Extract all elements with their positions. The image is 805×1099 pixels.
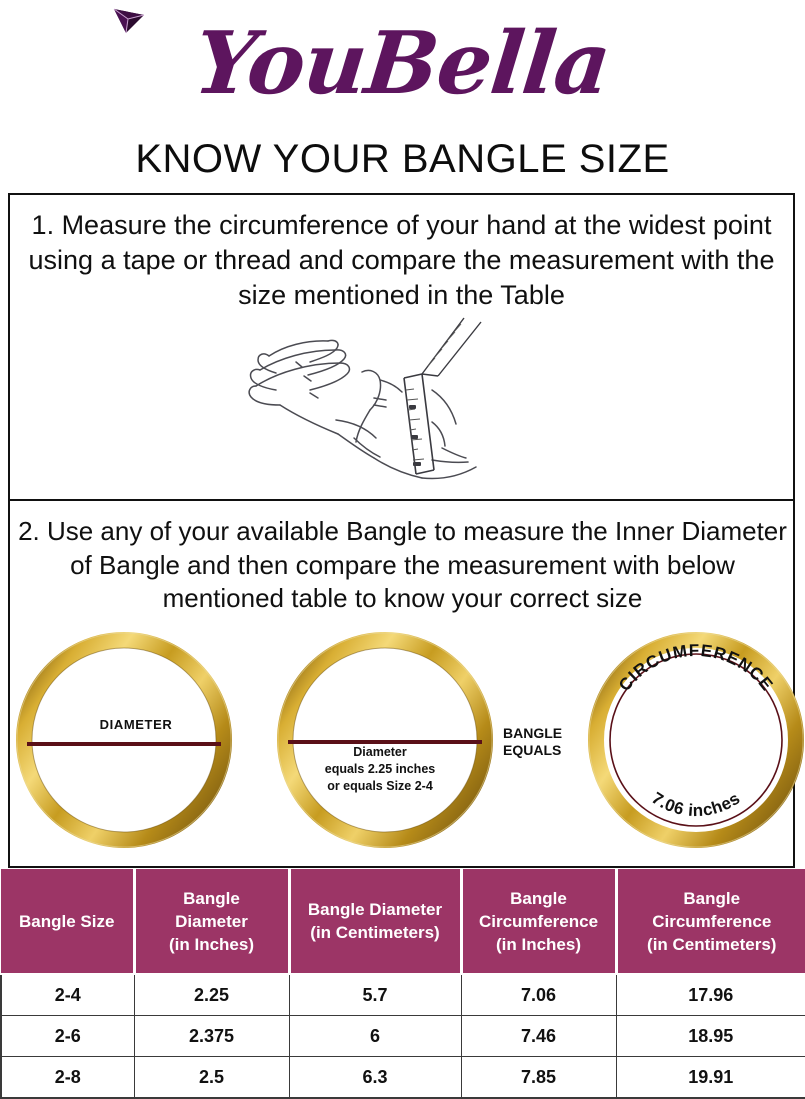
cell-circumference-centimeters: 18.95 bbox=[616, 1016, 805, 1057]
cell-bangle-size: 2-4 bbox=[1, 974, 134, 1016]
diamond-gem-icon bbox=[112, 6, 146, 36]
header-line: Diameter bbox=[138, 910, 286, 933]
step-2-instruction: 2. Use any of your available Bangle to m… bbox=[14, 515, 791, 616]
bangle-size-table-wrapper: Bangle Size Bangle Diameter (in Inches) … bbox=[0, 869, 805, 1085]
cell-diameter-inches: 2.25 bbox=[134, 974, 289, 1016]
cell-diameter-centimeters: 5.7 bbox=[289, 974, 461, 1016]
header-line: Circumference bbox=[465, 910, 613, 933]
table-row: 2-6 2.375 6 7.46 18.95 bbox=[1, 1016, 805, 1057]
bangle-size-guide-page: YouBella KNOW YOUR BANGLE SIZE 1. Measur… bbox=[0, 0, 805, 1085]
column-header-circumference-centimeters: Bangle Circumference (in Centimeters) bbox=[616, 869, 805, 974]
cell-circumference-centimeters: 17.96 bbox=[616, 974, 805, 1016]
brand-logo-text: YouBella bbox=[191, 21, 614, 107]
gold-bangle-icon bbox=[16, 632, 232, 848]
cell-circumference-inches: 7.46 bbox=[461, 1016, 616, 1057]
cell-circumference-inches: 7.85 bbox=[461, 1057, 616, 1099]
header-line: Bangle Diameter bbox=[293, 898, 458, 921]
cell-diameter-inches: 2.5 bbox=[134, 1057, 289, 1099]
header-line: (in Centimeters) bbox=[293, 921, 458, 944]
header-line: Bangle bbox=[138, 887, 286, 910]
bangle-diagram-circumference: CIRCUMFERENCE 7.06 inches bbox=[588, 632, 804, 848]
bangle-equals-line-2: EQUALS bbox=[503, 742, 573, 759]
header-line: Bangle bbox=[465, 887, 613, 910]
frame-section-divider bbox=[8, 499, 795, 501]
gold-bangle-icon bbox=[277, 632, 493, 848]
cell-circumference-inches: 7.06 bbox=[461, 974, 616, 1016]
cell-bangle-size: 2-6 bbox=[1, 1016, 134, 1057]
gold-bangle-icon: CIRCUMFERENCE 7.06 inches bbox=[588, 632, 804, 848]
cell-circumference-centimeters: 19.91 bbox=[616, 1057, 805, 1099]
bangle-diagram-diameter-detail bbox=[277, 632, 493, 848]
step-1-instruction: 1. Measure the circumference of your han… bbox=[20, 208, 783, 313]
brand-logo: YouBella bbox=[0, 0, 805, 128]
column-header-bangle-size: Bangle Size bbox=[1, 869, 134, 974]
page-title: KNOW YOUR BANGLE SIZE bbox=[0, 134, 805, 184]
bangle-equals-line-1: BANGLE bbox=[503, 725, 573, 742]
header-line: (in Centimeters) bbox=[620, 933, 805, 956]
bangle-size-table: Bangle Size Bangle Diameter (in Inches) … bbox=[0, 869, 805, 1099]
cell-diameter-centimeters: 6 bbox=[289, 1016, 461, 1057]
hand-with-measuring-tape-icon bbox=[236, 310, 516, 490]
svg-text:7.06 inches: 7.06 inches bbox=[648, 788, 743, 820]
header-line: Circumference bbox=[620, 910, 805, 933]
column-header-circumference-inches: Bangle Circumference (in Inches) bbox=[461, 869, 616, 974]
bangle-diagram-diameter: DIAMETER bbox=[16, 632, 232, 848]
cell-bangle-size: 2-8 bbox=[1, 1057, 134, 1099]
table-row: 2-8 2.5 6.3 7.85 19.91 bbox=[1, 1057, 805, 1099]
cell-diameter-inches: 2.375 bbox=[134, 1016, 289, 1057]
column-header-diameter-centimeters: Bangle Diameter (in Centimeters) bbox=[289, 869, 461, 974]
header-line: (in Inches) bbox=[465, 933, 613, 956]
bangle-illustrations: DIAMETER bbox=[0, 632, 805, 860]
table-header-row: Bangle Size Bangle Diameter (in Inches) … bbox=[1, 869, 805, 974]
header-line: Bangle bbox=[620, 887, 805, 910]
bangle-equals-label: BANGLE EQUALS bbox=[503, 725, 573, 759]
column-header-diameter-inches: Bangle Diameter (in Inches) bbox=[134, 869, 289, 974]
cell-diameter-centimeters: 6.3 bbox=[289, 1057, 461, 1099]
header-line: (in Inches) bbox=[138, 933, 286, 956]
circumference-value-label: 7.06 inches bbox=[648, 788, 743, 820]
table-row: 2-4 2.25 5.7 7.06 17.96 bbox=[1, 974, 805, 1016]
header-line: Bangle Size bbox=[3, 910, 131, 933]
